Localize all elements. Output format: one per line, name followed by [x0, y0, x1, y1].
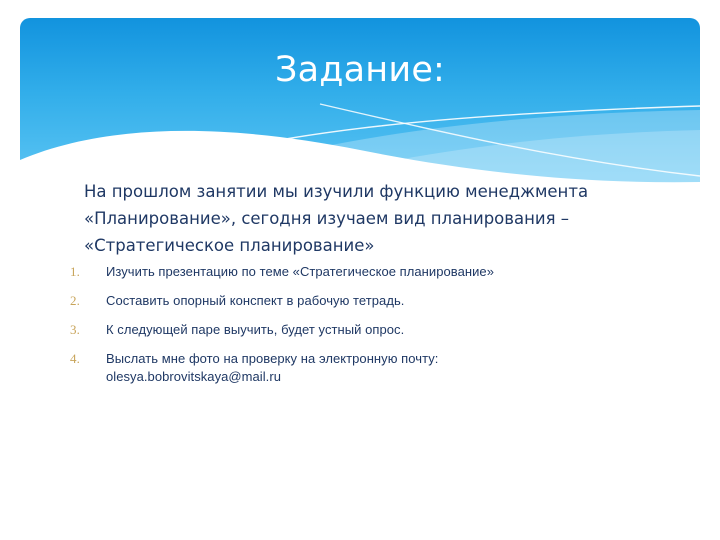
- list-item-text: Изучить презентацию по теме «Стратегичес…: [106, 263, 662, 281]
- list-item-text: К следующей паре выучить, будет устный о…: [106, 321, 662, 339]
- list-marker-4: [70, 350, 94, 368]
- email-address: olesya.bobrovitskaya@mail.ru: [106, 369, 281, 384]
- list-item: К следующей паре выучить, будет устный о…: [62, 321, 662, 339]
- list-marker-2: [70, 292, 94, 310]
- list-marker-3: [70, 321, 94, 339]
- page-title: Задание:: [20, 48, 700, 92]
- list-item-text: Составить опорный конспект в рабочую тет…: [106, 292, 662, 310]
- list-marker-1: [70, 263, 94, 281]
- list-item: Составить опорный конспект в рабочую тет…: [62, 292, 662, 310]
- lead-paragraph: На прошлом занятии мы изучили функцию ме…: [62, 178, 589, 259]
- task-list: Изучить презентацию по теме «Стратегичес…: [62, 263, 662, 386]
- slide-banner: [20, 18, 700, 186]
- list-item: Выслать мне фото на проверку на электрон…: [62, 350, 662, 386]
- presentation-slide: Задание: На прошлом занятии мы изучили ф…: [0, 0, 720, 540]
- list-item: Изучить презентацию по теме «Стратегичес…: [62, 263, 662, 281]
- slide-body: На прошлом занятии мы изучили функцию ме…: [62, 178, 662, 397]
- banner-wave-graphic: [20, 18, 700, 186]
- list-item-text: Выслать мне фото на проверку на электрон…: [106, 350, 662, 368]
